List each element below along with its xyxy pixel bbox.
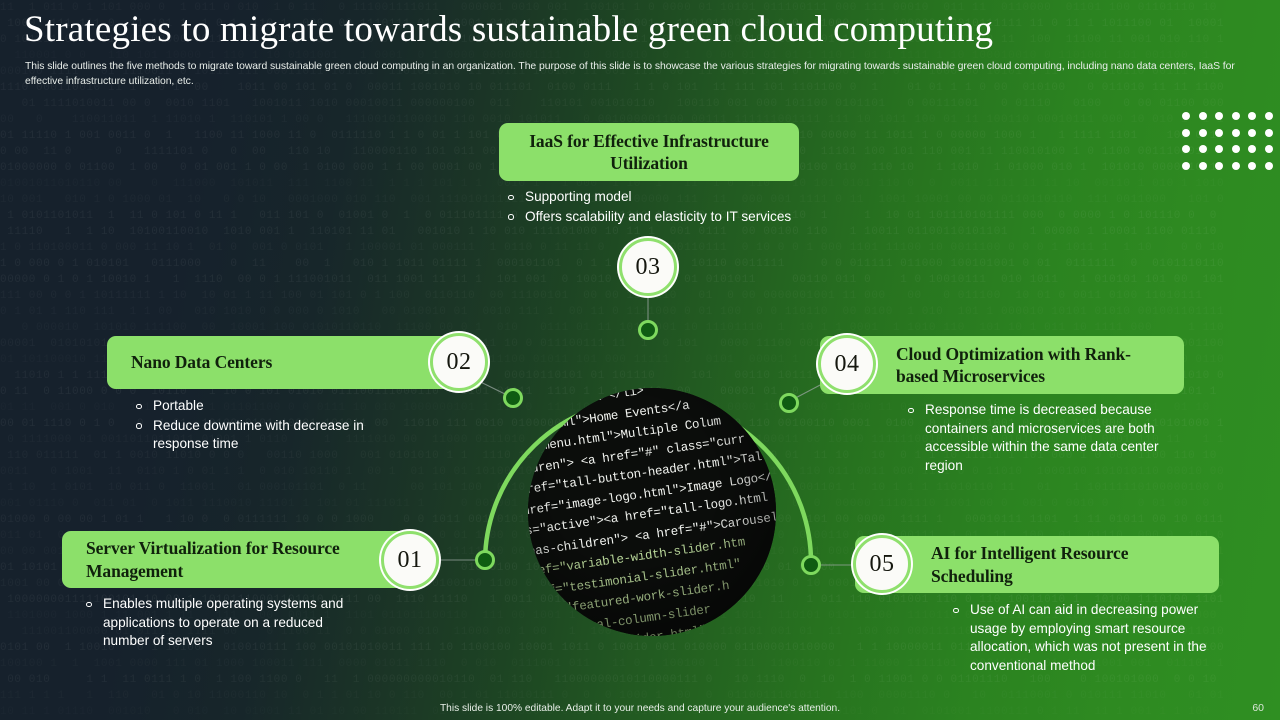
center-code-photo: .html">Home</a></li> -events.html">Home … <box>528 388 776 636</box>
step-01-number-badge[interactable]: 01 <box>379 529 441 591</box>
step-01-badge-inner: 01 <box>381 531 439 589</box>
list-item: Portable <box>133 397 403 416</box>
step-04-number: 04 <box>835 351 860 378</box>
page-number: 60 <box>1252 702 1264 714</box>
list-item: Offers scalability and elasticity to IT … <box>505 208 845 227</box>
ring-node-05 <box>803 557 820 574</box>
step-02-title-box[interactable]: Nano Data Centers <box>107 336 482 389</box>
step-01-title: Server Virtualization for Resource Manag… <box>86 537 396 582</box>
ring-node-04 <box>781 395 798 412</box>
step-02-title: Nano Data Centers <box>131 351 272 374</box>
step-03-number: 03 <box>636 254 661 281</box>
step-04-bullets: Response time is decreased because conta… <box>905 401 1177 476</box>
ring-node-02 <box>505 390 522 407</box>
list-item: Response time is decreased because conta… <box>905 401 1177 475</box>
step-01-number: 01 <box>398 547 423 574</box>
step-04-title: Cloud Optimization with Rank-based Micro… <box>896 343 1160 388</box>
step-02-badge-inner: 02 <box>430 333 488 391</box>
step-03-number-badge[interactable]: 03 <box>617 236 679 298</box>
step-01-title-box[interactable]: Server Virtualization for Resource Manag… <box>62 531 420 588</box>
step-01-bullets: Enables multiple operating systems and a… <box>83 595 353 652</box>
step-04-number-badge[interactable]: 04 <box>816 333 878 395</box>
step-03-bullets: Supporting model Offers scalability and … <box>505 188 845 227</box>
step-03-badge-inner: 03 <box>619 238 677 296</box>
list-item: Enables multiple operating systems and a… <box>83 595 353 651</box>
list-item: Reduce downtime with decrease in respons… <box>133 417 403 454</box>
step-05-number: 05 <box>870 551 895 578</box>
step-05-badge-inner: 05 <box>853 535 911 593</box>
list-item: Supporting model <box>505 188 845 207</box>
step-03-title-box[interactable]: IaaS for Effective Infrastructure Utiliz… <box>499 123 799 181</box>
step-02-bullets: Portable Reduce downtime with decrease i… <box>133 397 403 455</box>
list-item: Use of AI can aid in decreasing power us… <box>950 601 1218 675</box>
step-05-number-badge[interactable]: 05 <box>851 533 913 595</box>
step-02-number-badge[interactable]: 02 <box>428 331 490 393</box>
step-02-number: 02 <box>447 349 472 376</box>
ring-node-01 <box>477 552 494 569</box>
step-05-bullets: Use of AI can aid in decreasing power us… <box>950 601 1218 676</box>
step-03-title: IaaS for Effective Infrastructure Utiliz… <box>513 130 785 175</box>
step-05-title: AI for Intelligent Resource Scheduling <box>931 542 1195 587</box>
step-04-badge-inner: 04 <box>818 335 876 393</box>
footer-note: This slide is 100% editable. Adapt it to… <box>0 703 1280 714</box>
slide-root: 11 1 011 0 1 101 000 0 1 011 0 010 1 0 1… <box>0 0 1280 720</box>
ring-node-03 <box>640 322 657 339</box>
photo-vignette <box>528 388 776 636</box>
